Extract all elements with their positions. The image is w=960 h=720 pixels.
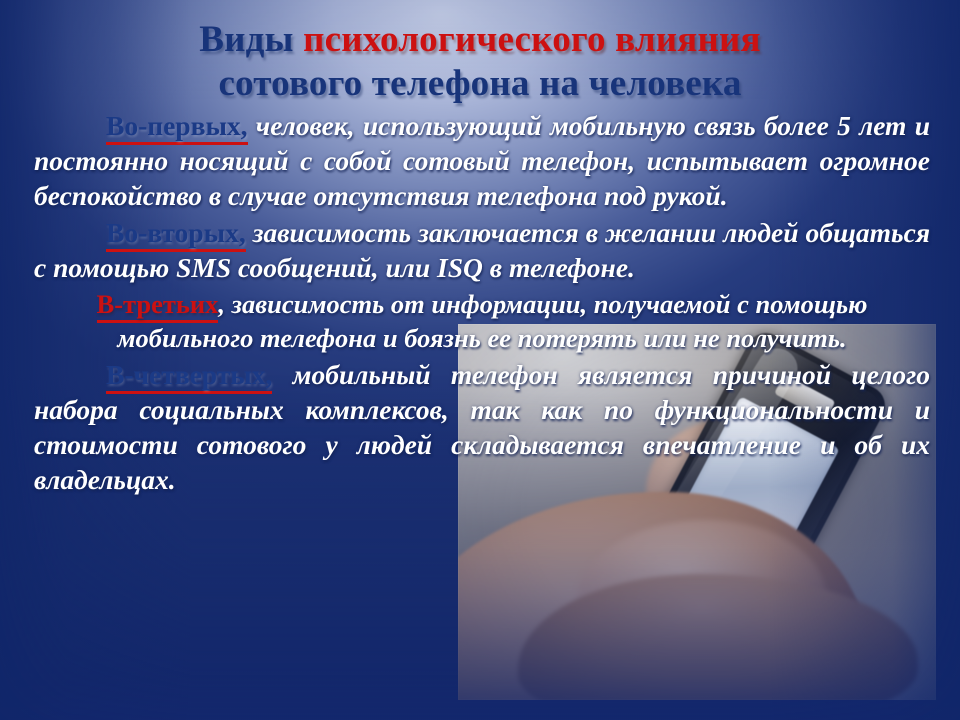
title-line-1-blue: Виды: [199, 19, 303, 60]
paragraph-4: В-четвертых, мобильный телефон является …: [34, 357, 930, 497]
paragraph-3-text: , зависимость от информации, получаемой …: [117, 289, 867, 353]
paragraph-2-lead-in: Во-вторых,: [106, 217, 246, 252]
title-line-2: сотового телефона на человека: [0, 62, 960, 106]
slide-body: Во-первых, человек, использующий мобильн…: [34, 108, 930, 499]
paragraph-2: Во-вторых, зависимость заключается в жел…: [34, 215, 930, 285]
slide-title: Виды психологического влияния сотового т…: [0, 18, 960, 106]
paragraph-3-lead-in: В-третьих: [97, 289, 219, 323]
presentation-slide: Виды психологического влияния сотового т…: [0, 0, 960, 720]
title-line-1: Виды психологического влияния: [0, 18, 960, 62]
paragraph-1: Во-первых, человек, использующий мобильн…: [34, 108, 930, 213]
paragraph-1-lead-in: Во-первых,: [106, 110, 248, 145]
paragraph-4-lead-in: В-четвертых,: [106, 359, 272, 394]
paragraph-3: В-третьих, зависимость от информации, по…: [34, 287, 930, 355]
title-line-1-red: психологического влияния: [303, 19, 761, 60]
